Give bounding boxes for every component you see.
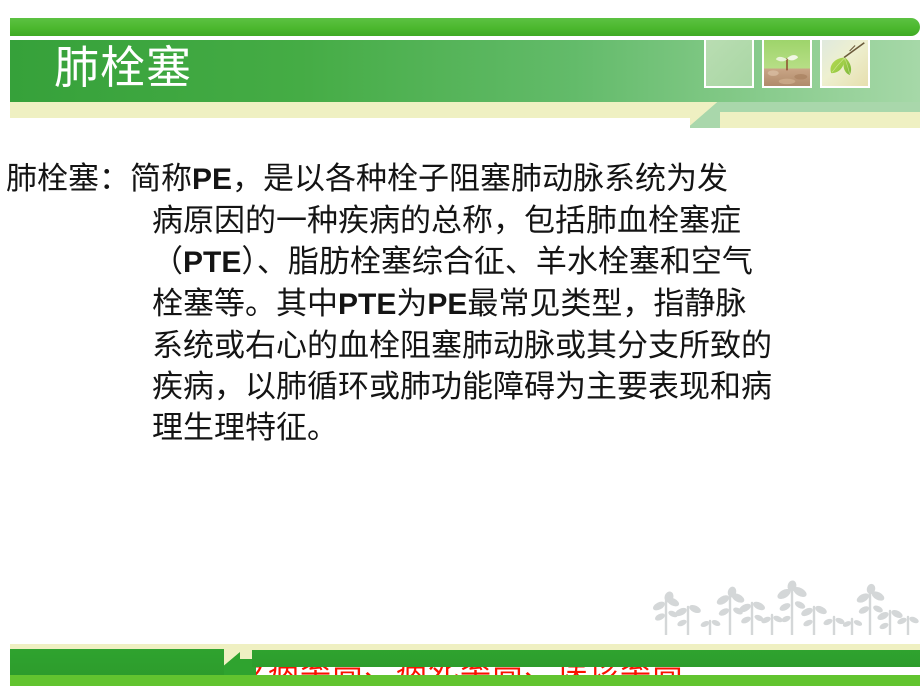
- sprout-silhouettes-icon: [652, 573, 920, 635]
- body-line-3-abbr: PTE: [183, 246, 241, 279]
- body-line-1: 肺栓塞：简称PE，是以各种栓子阻塞肺动脉系统为发: [6, 158, 914, 200]
- page-title: 肺栓塞: [54, 36, 192, 100]
- body-line-1-head: 肺栓塞：简称: [6, 161, 192, 196]
- header-thumbnail-strip: [704, 38, 870, 88]
- header-underline-pale-right: [716, 112, 920, 128]
- header-top-accent-bar: [10, 18, 920, 36]
- header-underline-pale-left: [10, 102, 704, 118]
- body-line-6: 疾病，以肺循环或肺功能障碍为主要表现和病: [6, 366, 914, 407]
- body-line-4: 栓塞等。其中PTE为PE最常见类型，指静脉: [6, 283, 914, 325]
- slide-canvas: 肺栓塞: [0, 0, 920, 690]
- body-line-4-abbr: PTE: [338, 288, 396, 321]
- footer-green-band-right: [252, 650, 920, 667]
- body-line-2: 病原因的一种疾病的总称，包括肺血栓塞症: [6, 200, 914, 241]
- body-line-1-tail: ，是以各种栓子阻塞肺动脉系统为发: [232, 161, 728, 196]
- body-line-1-abbr: PE: [192, 163, 232, 196]
- definition-paragraph: 肺栓塞：简称PE，是以各种栓子阻塞肺动脉系统为发 病原因的一种疾病的总称，包括肺…: [6, 158, 914, 448]
- body-content: 肺栓塞：简称PE，是以各种栓子阻塞肺动脉系统为发 病原因的一种疾病的总称，包括肺…: [6, 158, 914, 448]
- seedling-thumbnail: [762, 38, 812, 88]
- body-line-3-head: （: [152, 244, 183, 279]
- body-line-4-abbr-2: PE: [427, 288, 467, 321]
- blank-green-thumbnail: [704, 38, 754, 88]
- body-line-3: （PTE）、脂肪栓塞综合征、羊水栓塞和空气: [6, 241, 914, 283]
- body-line-5: 系统或右心的血栓阻塞肺动脉或其分支所致的: [6, 325, 914, 366]
- body-line-4-mid: 为: [396, 286, 427, 321]
- header-underline-step: [690, 102, 720, 128]
- footer-green-band-left: [10, 649, 236, 676]
- body-line-4-tail: 最常见类型，指静脉: [467, 286, 746, 321]
- green-leaves-thumbnail: [820, 38, 870, 88]
- body-line-3-tail: ）、脂肪栓塞综合征、羊水栓塞和空气: [241, 244, 753, 279]
- body-line-4-head: 栓塞等。其中: [152, 286, 338, 321]
- footer-bright-accent-bar: [10, 675, 920, 686]
- body-line-7: 理生理特征。: [6, 407, 914, 448]
